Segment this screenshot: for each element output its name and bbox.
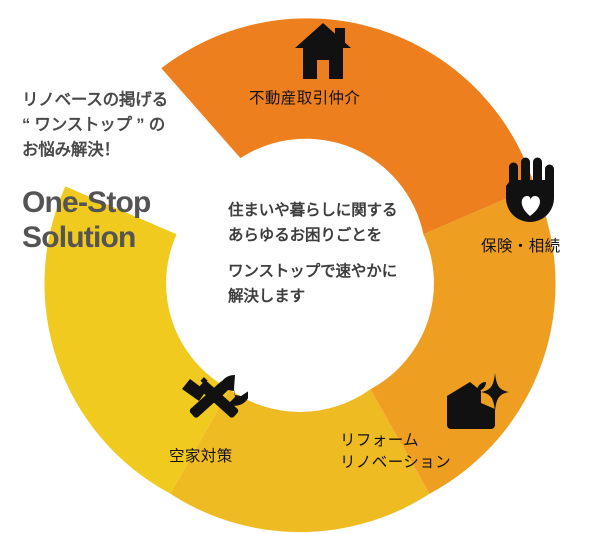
center-copy-block: 住まいや暮らしに関する あらゆるお困りごとを ワンストップで速やかに 解決します (228, 198, 440, 309)
center-line-3: ワンストップで速やかに (228, 259, 440, 284)
segment-label-line: 空家対策 (169, 446, 233, 468)
segment-label-line: リフォーム (340, 430, 451, 452)
infographic-canvas: 不動産取引仲介 保険・相続 リフォーム リノベーション 空家対策 リノベースの掲… (0, 0, 600, 533)
left-copy-block: リノベースの掲げる “ ワンストップ ” の お悩み解決！ One-Stop S… (22, 88, 222, 255)
segment-label-insurance: 保険・相続 (481, 236, 561, 258)
segment-label-line: リノベーション (340, 452, 451, 474)
title-line-1: One-Stop (22, 185, 222, 220)
hammer-wrench-icon (180, 372, 248, 437)
segment-label-line: 保険・相続 (481, 236, 561, 258)
center-line-4: 解決します (228, 284, 440, 309)
center-line-2: あらゆるお困りごとを (228, 223, 440, 248)
house-icon (292, 22, 354, 87)
segment-label-reform: リフォーム リノベーション (340, 430, 451, 474)
lead-line-1: リノベースの掲げる (22, 88, 222, 113)
hand-heart-icon (501, 156, 559, 233)
segment-label-vacant-house: 空家対策 (169, 446, 233, 468)
title-line-2: Solution (22, 220, 222, 255)
lead-line-2: “ ワンストップ ” の (22, 113, 222, 138)
page-title: One-Stop Solution (22, 185, 222, 255)
segment-label-line: 不動産取引仲介 (249, 88, 360, 110)
center-line-1: 住まいや暮らしに関する (228, 198, 440, 223)
lead-line-3: お悩み解決！ (22, 138, 222, 163)
center-copy-spacer (228, 248, 440, 259)
segment-label-real-estate: 不動産取引仲介 (249, 88, 360, 110)
